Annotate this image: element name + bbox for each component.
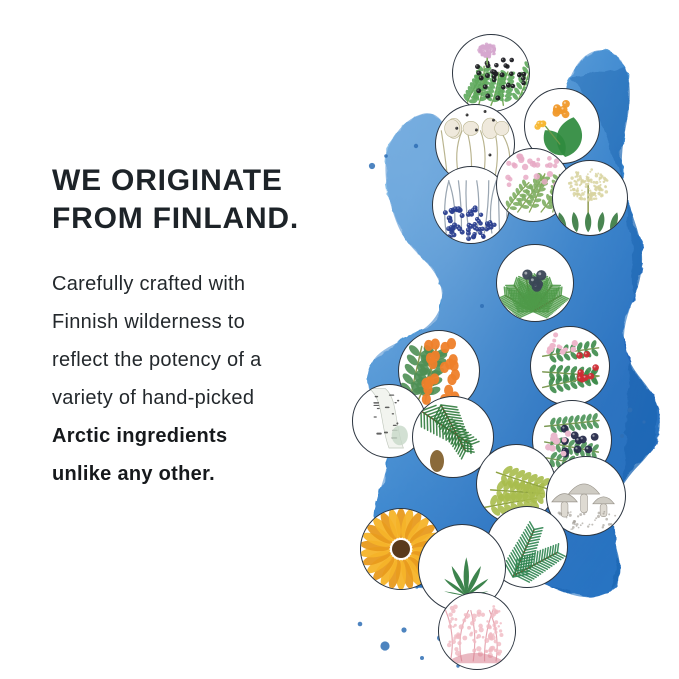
splatter-dot	[358, 622, 363, 627]
ingredient-circle-juniper	[496, 244, 574, 322]
ingredient-circle-crowberry-heather	[452, 34, 530, 112]
ingredient-circle-lingonberry	[530, 326, 610, 406]
body-line-2: reflect the potency of a	[52, 341, 352, 379]
ingredient-circle-pink-heather	[438, 592, 516, 670]
splatter-dot	[480, 304, 484, 308]
ingredient-circle-meadowsweet	[552, 160, 628, 236]
splatter-dot	[642, 420, 645, 423]
splatter-dot	[628, 408, 633, 413]
splatter-dot	[380, 641, 389, 650]
text-panel: WE ORIGINATEFROM FINLAND. Carefully craf…	[52, 162, 352, 493]
splatter-dot	[369, 163, 375, 169]
body-line-3: variety of hand-picked	[52, 379, 352, 417]
splatter-dot	[620, 434, 624, 438]
splatter-dot	[401, 627, 406, 632]
splatter-dot	[414, 144, 418, 148]
lingonberry-illustration	[531, 327, 609, 405]
body-line-1: Finnish wilderness to	[52, 303, 352, 341]
meadowsweet-illustration	[553, 161, 627, 235]
splatter-dot	[420, 656, 424, 660]
body-line-0: Carefully crafted with	[52, 265, 352, 303]
juniper-illustration	[497, 245, 573, 321]
headline-line-0: WE ORIGINATE	[52, 162, 352, 200]
headline-line-1: FROM FINLAND.	[52, 200, 352, 238]
body-line-4: Arctic ingredients	[52, 417, 352, 455]
pink-heather-illustration	[439, 593, 515, 669]
body-line-5: unlike any other.	[52, 455, 352, 493]
page-title: WE ORIGINATEFROM FINLAND.	[52, 162, 352, 239]
body-copy: Carefully crafted withFinnish wilderness…	[52, 239, 352, 493]
splatter-dot	[384, 154, 388, 158]
crowberry-heather-illustration	[453, 35, 529, 111]
poster-canvas: WE ORIGINATEFROM FINLAND. Carefully craf…	[0, 0, 679, 679]
